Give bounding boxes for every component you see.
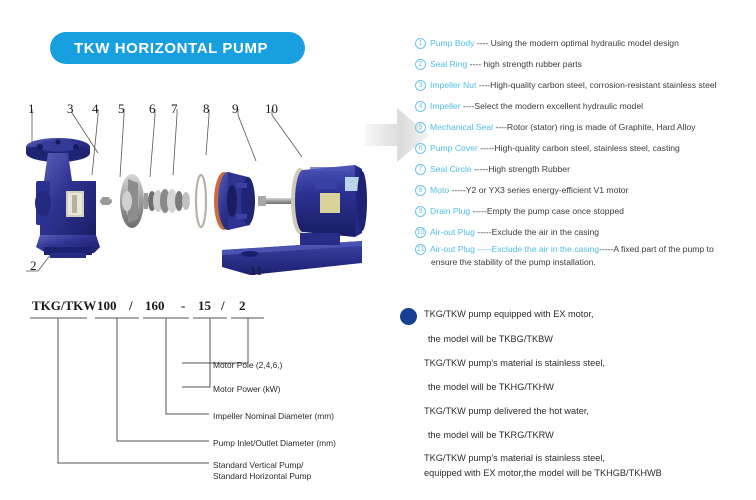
part-name: Impeller — [430, 101, 463, 111]
part-list-item: 11Air-out Plug -----Exclude the air in t… — [415, 243, 756, 273]
part-description: ----Select the modern excellent hydrauli… — [463, 101, 643, 111]
variant-line: the model will be TKBG/TKBW — [428, 334, 553, 344]
part-description-extra: -----A fixed part of the pump to — [599, 244, 714, 254]
part-name: Impeller Nut — [430, 80, 479, 90]
part-number-badge: 2 — [415, 59, 426, 70]
part-number-badge: 11 — [415, 244, 426, 255]
callout-number-4: 4 — [92, 101, 99, 117]
model-code-label: Standard Horizontal Pump — [213, 471, 311, 482]
model-code-breakdown: TKG/TKW100/160-15/2 Motor Pole (2,4,6,)M… — [12, 296, 392, 496]
part-list-item: 4Impeller ----Select the modern excellen… — [415, 96, 756, 117]
part-number-badge: 6 — [415, 143, 426, 154]
model-code-token: 100 — [97, 298, 117, 314]
callout-number-1: 1 — [28, 101, 35, 117]
model-code-token: 2 — [239, 298, 246, 314]
part-description: -----Empty the pump case once stopped — [473, 206, 624, 216]
callout-number-9: 9 — [232, 101, 239, 117]
part-name: Pump Body — [430, 38, 477, 48]
callout-number-3: 3 — [67, 101, 74, 117]
variant-line: TKG/TKW pump's material is stainless ste… — [424, 358, 605, 368]
part-name: Seal Ring — [430, 59, 470, 69]
callout-number-11: 11 — [250, 263, 263, 279]
part-number-badge: 5 — [415, 122, 426, 133]
part-description: ---- Using the modern optimal hydraulic … — [477, 38, 679, 48]
callout-number-2: 2 — [30, 258, 37, 274]
part-number-badge: 3 — [415, 80, 426, 91]
variant-line: the model will be TKHG/TKHW — [428, 382, 554, 392]
part-description: -----Y2 or YX3 series energy-efficient V… — [452, 185, 629, 195]
page-title: TKW HORIZONTAL PUMP — [74, 40, 268, 57]
part-list-item: 7Seal Circle -----High strength Rubber — [415, 159, 756, 180]
part-number-badge: 1 — [415, 38, 426, 49]
part-description: -----Exclude the air in the casing — [477, 244, 599, 254]
part-name: Moto — [430, 185, 452, 195]
part-list-item: 1Pump Body ---- Using the modern optimal… — [415, 33, 756, 54]
part-number-badge: 9 — [415, 206, 426, 217]
poster-root: TKW HORIZONTAL PUMP — [0, 0, 756, 500]
model-code-leader-lines — [12, 296, 392, 496]
model-code-label: Impeller Nominal Diameter (mm) — [213, 411, 334, 422]
part-description: ----High-quality carbon steel, corrosion… — [479, 80, 717, 90]
part-number-badge: 7 — [415, 164, 426, 175]
part-description: -----Exclude the air in the casing — [477, 227, 599, 237]
pump-assembly-diagram: 1345678910211 — [10, 95, 380, 290]
part-name: Drain Plug — [430, 206, 473, 216]
part-list-item: 2Seal Ring ---- high strength rubber par… — [415, 54, 756, 75]
model-code-token: 160 — [145, 298, 165, 314]
title-banner: TKW HORIZONTAL PUMP — [50, 32, 305, 64]
callout-number-8: 8 — [203, 101, 210, 117]
model-code-label: Standard Vertical Pump/ — [213, 460, 303, 471]
part-number-badge: 10 — [415, 227, 426, 238]
part-name: Pump Cover — [430, 143, 480, 153]
model-code-token: - — [181, 298, 185, 314]
variant-line: the model will be TKRG/TKRW — [428, 430, 554, 440]
model-variants-block: TKG/TKW pump equipped with EX motor,the … — [400, 303, 756, 493]
part-description: -----High-quality carbon steel, stainles… — [480, 143, 680, 153]
variant-line: TKG/TKW pump equipped with EX motor, — [424, 309, 594, 319]
part-description-continued: ensure the stability of the pump install… — [431, 256, 756, 269]
part-list-item: 6Pump Cover -----High-quality carbon ste… — [415, 138, 756, 159]
callout-number-6: 6 — [149, 101, 156, 117]
model-code-label: Motor Pole (2,4,6,) — [213, 360, 282, 371]
part-list-item: 8Moto -----Y2 or YX3 series energy-effic… — [415, 180, 756, 201]
model-code-label: Pump Inlet/Outlet Diameter (mm) — [213, 438, 336, 449]
callout-number-7: 7 — [171, 101, 178, 117]
variant-line: TKG/TKW pump delivered the hot water, — [424, 406, 589, 416]
model-code-token: / — [221, 298, 225, 314]
part-list-item: 9Drain Plug -----Empty the pump case onc… — [415, 201, 756, 222]
callout-number-10: 10 — [265, 101, 278, 117]
bullet-dot-icon — [400, 308, 417, 325]
part-list-item: 3Impeller Nut ----High-quality carbon st… — [415, 75, 756, 96]
part-name: Mechanical Seal — [430, 122, 495, 132]
parts-description-list: 1Pump Body ---- Using the modern optimal… — [415, 33, 756, 273]
part-list-item: 10Air-out Plug -----Exclude the air in t… — [415, 222, 756, 243]
part-name: Seal Circle — [430, 164, 474, 174]
callout-number-5: 5 — [118, 101, 125, 117]
part-description: ---- high strength rubber parts — [470, 59, 582, 69]
model-code-token: / — [129, 298, 133, 314]
part-name: Air-out Plug — [430, 244, 477, 254]
part-description: -----High strength Rubber — [474, 164, 570, 174]
model-code-token: TKG/TKW — [32, 298, 96, 314]
variant-line: TKG/TKW pump's material is stainless ste… — [424, 453, 605, 463]
part-number-badge: 4 — [415, 101, 426, 112]
part-name: Air-out Plug — [430, 227, 477, 237]
model-code-token: 15 — [198, 298, 211, 314]
part-description: ----Rotor (stator) ring is made of Graph… — [495, 122, 695, 132]
part-number-badge: 8 — [415, 185, 426, 196]
model-code-label: Motor Power (kW) — [213, 384, 280, 395]
assembly-illustration — [10, 95, 380, 290]
variant-line: equipped with EX motor,the model will be… — [424, 468, 662, 478]
part-list-item: 5Mechanical Seal ----Rotor (stator) ring… — [415, 117, 756, 138]
